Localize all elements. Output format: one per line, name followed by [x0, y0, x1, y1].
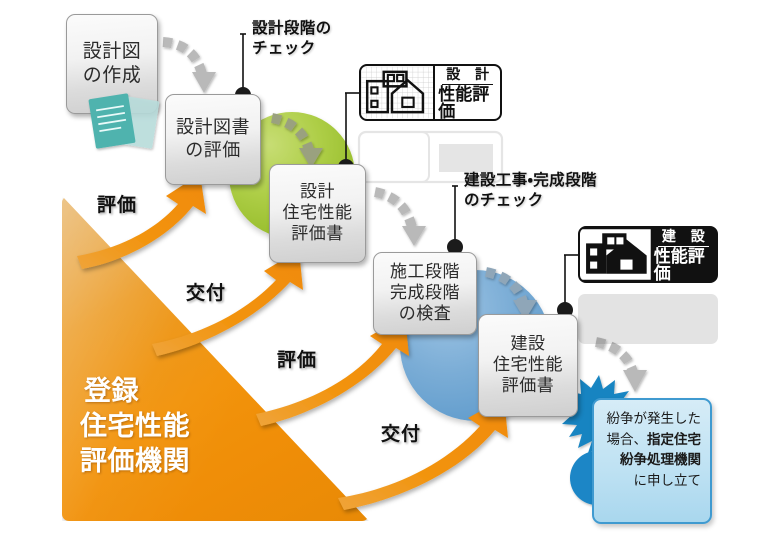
node-cert2-line-3: 評価書 — [493, 376, 563, 397]
flow-label-issuance-2: 交付 — [381, 419, 421, 446]
house-solid-icon — [580, 228, 651, 281]
node-inspect-line-2: 完成段階 — [390, 283, 460, 304]
design-performance-stamp: 設 計 性能評価 — [359, 64, 502, 121]
gray-connector-cert2-to-claim — [596, 342, 647, 392]
claim-line-2: 場合、指定住宅 — [601, 430, 701, 451]
leader-line-design-check — [235, 34, 253, 103]
construction-performance-stamp: 建 設 性能評価 — [578, 226, 718, 283]
gray-connector-cert1-to-inspect — [375, 192, 426, 246]
flow-label-issuance-1: 交付 — [186, 278, 226, 305]
gray-connector-plan-to-review — [163, 42, 216, 93]
node-plan-line-1: 設計図 — [83, 40, 142, 64]
org-name-line-1: 登録 — [80, 374, 290, 409]
design-stamp-top-label: 設 計 — [441, 68, 494, 82]
node-cert2-line-1: 建設 — [493, 334, 563, 355]
node-review-line-2: の評価 — [176, 140, 250, 162]
callout-design-stage-check: 設計段階の チェック — [252, 18, 332, 58]
flow-label-evaluation-2: 評価 — [277, 345, 317, 372]
design-stamp-bottom-label: 性能評価 — [438, 87, 497, 121]
node-construction-inspection[interactable]: 施工段階 完成段階 の検査 — [373, 252, 477, 335]
flow-label-evaluation-1: 評価 — [97, 190, 137, 217]
org-name-line-2: 住宅性能 — [80, 409, 290, 444]
node-cert1-line-3: 評価書 — [283, 224, 353, 245]
claim-line-3-bold: 紛争処理機関 — [620, 452, 701, 468]
claim-line-3: 紛争処理機関 — [601, 450, 701, 471]
blueprint-papers-icon — [86, 88, 164, 156]
leader-line-build-check — [447, 186, 463, 255]
claim-line-2-bold: 指定住宅 — [647, 432, 701, 448]
construction-stamp-text: 建 設 性能評価 — [651, 228, 716, 283]
design-stamp-text: 設 計 性能評価 — [435, 66, 500, 121]
org-name-line-3: 評価機関 — [80, 444, 290, 479]
callout-construction-stage-check: 建設工事・完成段階 のチェック — [464, 170, 597, 210]
node-construction-performance-certificate[interactable]: 建設 住宅性能 評価書 — [478, 314, 578, 417]
node-design-document-review[interactable]: 設計図書 の評価 — [165, 94, 261, 185]
node-review-line-1: 設計図書 — [176, 117, 250, 139]
diagram-canvas: 登録 住宅性能 評価機関 — [0, 0, 770, 538]
claim-line-1: 紛争が発生した — [601, 409, 701, 430]
registered-evaluation-body-label: 登録 住宅性能 評価機関 — [80, 374, 290, 479]
build-stamp-reflection — [578, 294, 718, 344]
node-cert2-line-2: 住宅性能 — [493, 355, 563, 376]
leader-line-build-stamp — [557, 255, 578, 318]
build-stamp-top-label: 建 設 — [657, 230, 710, 244]
build-stamp-bottom-label: 性能評価 — [654, 249, 713, 283]
node-cert1-line-1: 設計 — [283, 182, 353, 203]
claim-line-2-plain: 場合、 — [607, 432, 648, 448]
node-inspect-line-1: 施工段階 — [390, 262, 460, 283]
node-plan-line-2: の作成 — [83, 64, 142, 88]
claim-line-4: に申し立て — [601, 471, 701, 492]
house-blueprint-icon — [361, 66, 435, 119]
node-inspect-line-3: の検査 — [390, 304, 460, 325]
dispute-resolution-box[interactable]: 紛争が発生した 場合、指定住宅 紛争処理機関 に申し立て — [592, 398, 712, 524]
node-design-performance-certificate[interactable]: 設計 住宅性能 評価書 — [269, 164, 366, 263]
node-cert1-line-2: 住宅性能 — [283, 203, 353, 224]
